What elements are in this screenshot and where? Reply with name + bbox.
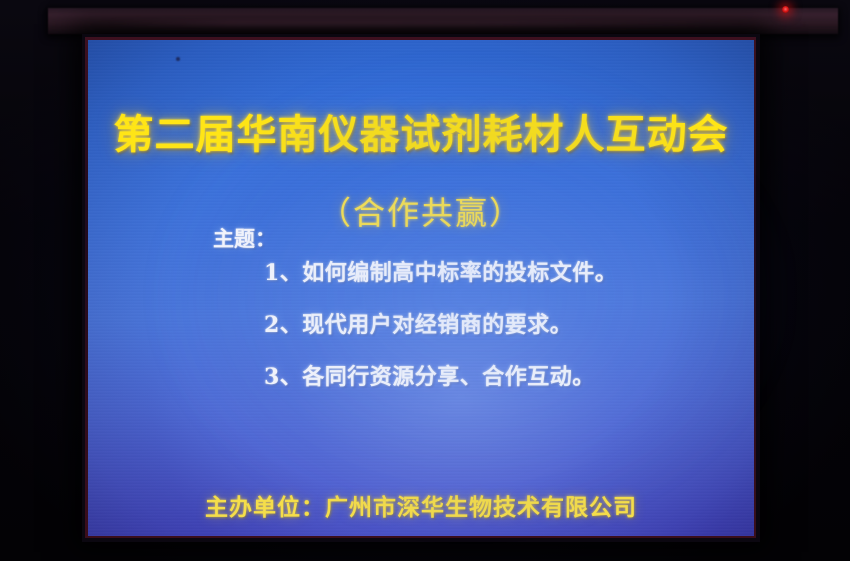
topics-heading: 主题：	[213, 223, 276, 253]
projected-slide: 第二届华南仪器试剂耗材人互动会 （合作共赢） 主题： 1、如何编制高中标率的投标…	[88, 40, 754, 536]
power-led-icon	[782, 6, 789, 13]
topics-list: 1、如何编制高中标率的投标文件。 2、现代用户对经销商的要求。 3、各同行资源分…	[264, 255, 617, 411]
projector-screen-housing	[48, 8, 838, 34]
dust-speck-artifact	[176, 57, 180, 61]
slide-title: 第二届华南仪器试剂耗材人互动会	[88, 102, 754, 160]
organizer-line: 主办单位：广州市深华生物技术有限公司	[88, 488, 754, 522]
topic-item-1: 1、如何编制高中标率的投标文件。	[264, 255, 617, 307]
housing-highlight	[108, 20, 808, 27]
slide-subtitle: （合作共赢）	[88, 188, 754, 234]
topic-item-2: 2、现代用户对经销商的要求。	[264, 307, 617, 359]
dark-room-scene: 第二届华南仪器试剂耗材人互动会 （合作共赢） 主题： 1、如何编制高中标率的投标…	[0, 0, 850, 561]
topic-item-3: 3、各同行资源分享、合作互动。	[264, 359, 617, 411]
